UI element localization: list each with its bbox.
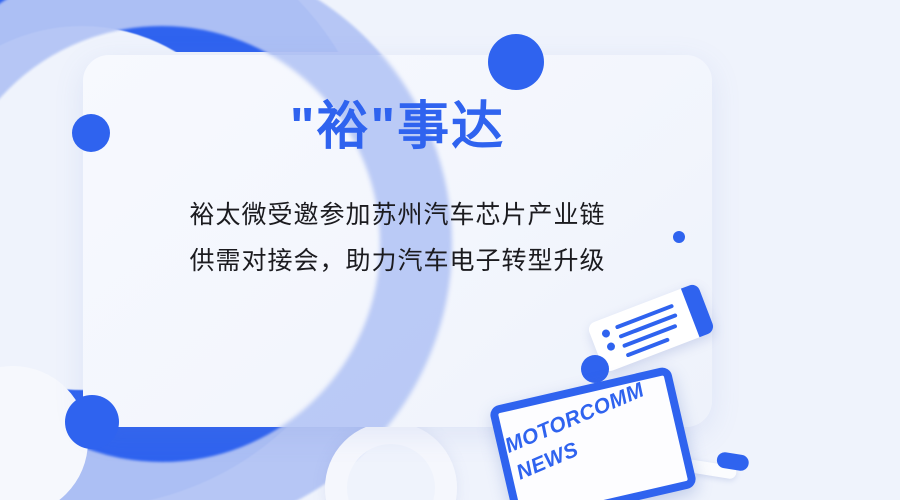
blue-dot-lower-left [65, 395, 119, 449]
page-title: "裕"事达 [290, 99, 505, 156]
banner-body-line-1: 裕太微受邀参加苏州汽车芯片产业链 [189, 192, 605, 238]
blue-dot-right [673, 231, 685, 243]
content-card-text: "裕"事达 裕太微受邀参加苏州汽车芯片产业链 供需对接会，助力汽车电子转型升级 [83, 55, 712, 427]
banner-body-line-2: 供需对接会，助力汽车电子转型升级 [189, 238, 605, 284]
blue-dot-megaphone [581, 355, 609, 383]
banner-body: 裕太微受邀参加苏州汽车芯片产业链 供需对接会，助力汽车电子转型升级 [189, 192, 605, 285]
promo-banner: "裕"事达 裕太微受邀参加苏州汽车芯片产业链 供需对接会，助力汽车电子转型升级 [0, 0, 900, 500]
content-card: "裕"事达 裕太微受邀参加苏州汽车芯片产业链 供需对接会，助力汽车电子转型升级 [83, 55, 712, 427]
blue-dot-upper-left [72, 114, 110, 152]
blue-dot-top [488, 34, 544, 90]
